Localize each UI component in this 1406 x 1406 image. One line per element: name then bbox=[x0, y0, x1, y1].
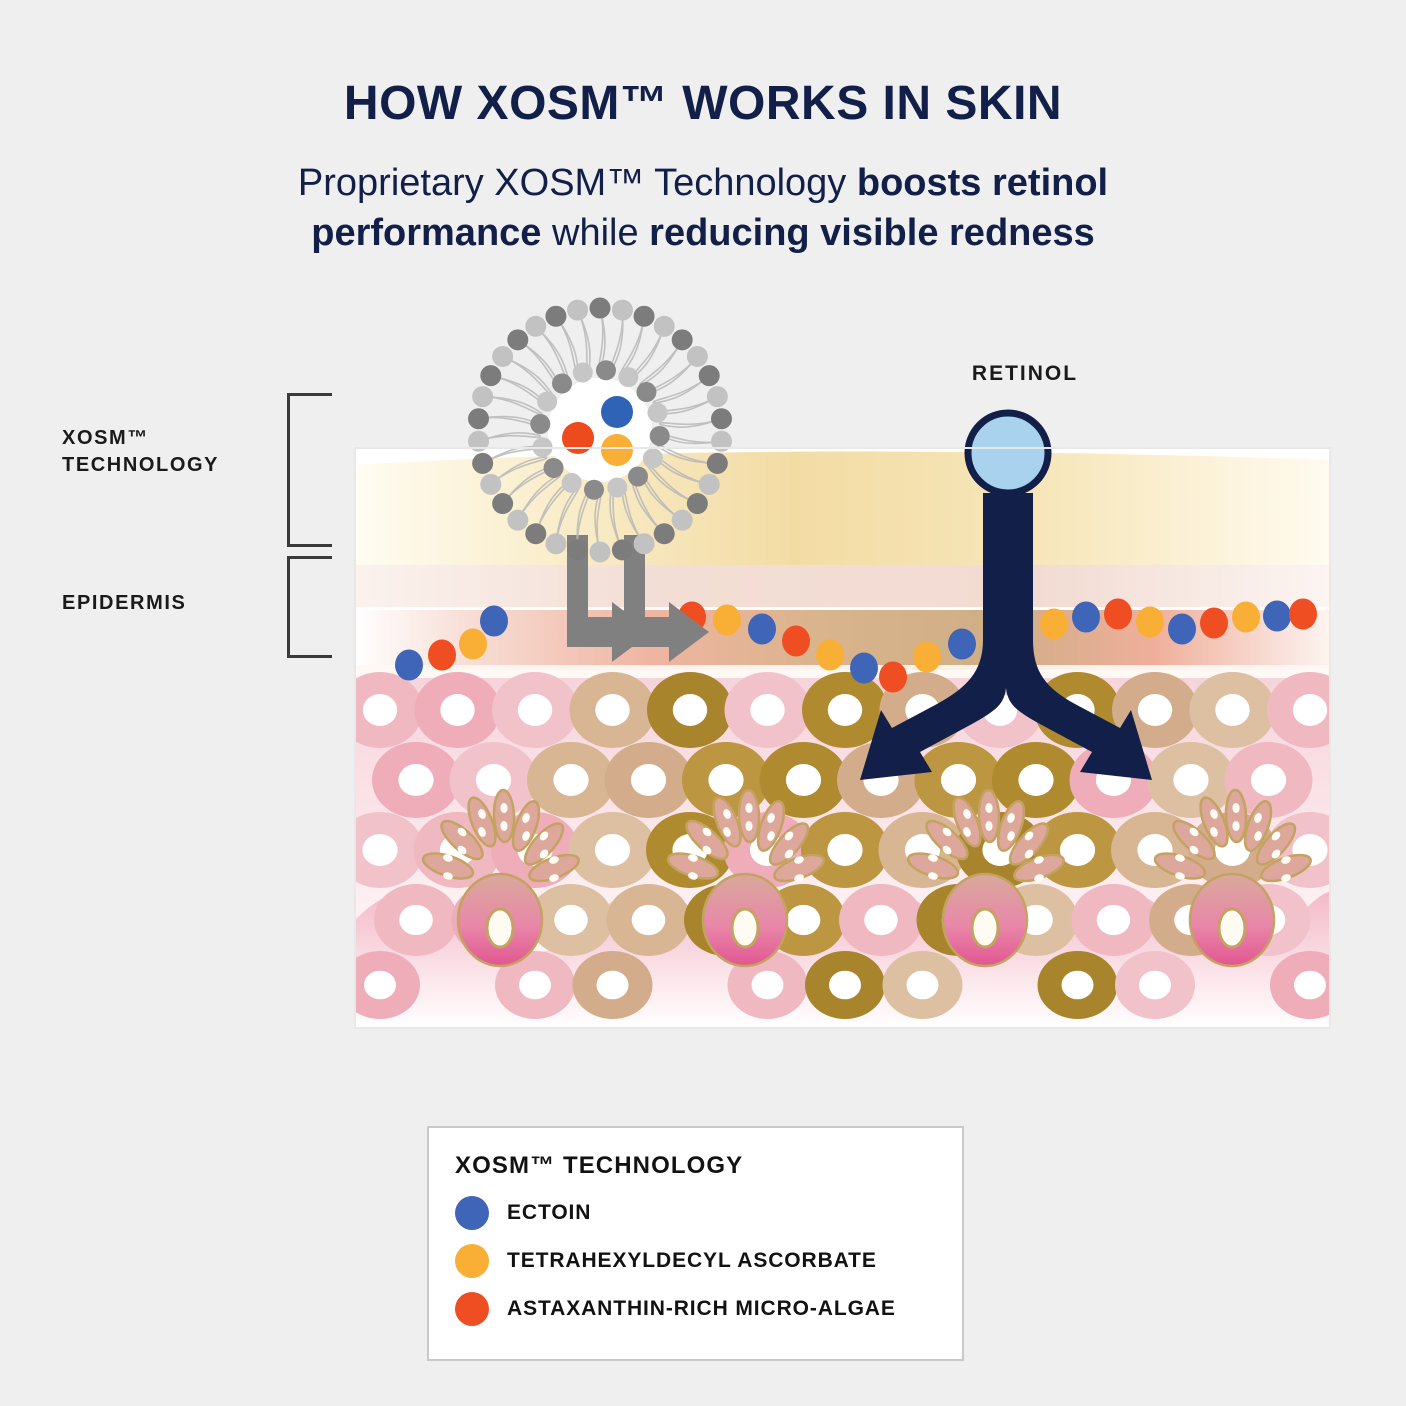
lipid-head-inner bbox=[537, 392, 557, 412]
cell-nucleus bbox=[631, 764, 666, 796]
lipid-head-inner bbox=[562, 473, 582, 493]
lipid-head bbox=[472, 453, 493, 474]
ingredient-dot bbox=[1104, 599, 1132, 630]
retinol-molecule bbox=[968, 413, 1048, 493]
cell-nucleus bbox=[362, 834, 397, 866]
lipid-head bbox=[672, 510, 693, 531]
ingredient-dot bbox=[1200, 608, 1228, 639]
lipid-head-inner bbox=[596, 360, 616, 380]
cell-nucleus bbox=[363, 694, 397, 726]
ingredient-dot bbox=[1136, 607, 1164, 638]
cell-nucleus bbox=[364, 971, 396, 1000]
cell-nucleus bbox=[673, 694, 707, 726]
cell-nucleus bbox=[786, 764, 821, 796]
ingredient-dot bbox=[1232, 602, 1260, 633]
liposome-dot-astaxanthin bbox=[562, 422, 594, 454]
cell-nucleus bbox=[1251, 764, 1286, 796]
cell-nucleus bbox=[554, 905, 588, 935]
liposome-dot-ascorbate bbox=[601, 434, 633, 466]
lipid-head bbox=[687, 493, 708, 514]
cell-nucleus bbox=[907, 971, 939, 1000]
lipid-head bbox=[634, 306, 655, 327]
melanocyte-nucleus bbox=[972, 909, 998, 947]
lipid-head-inner bbox=[643, 448, 663, 468]
lipid-head-inner bbox=[552, 374, 572, 394]
ingredient-dot bbox=[948, 629, 976, 660]
cell-nucleus bbox=[632, 905, 666, 935]
lipid-head-inner bbox=[530, 414, 550, 434]
lipid-head bbox=[545, 306, 566, 327]
lipid-head bbox=[654, 316, 675, 337]
ingredient-dot bbox=[713, 605, 741, 636]
ingredient-dot bbox=[748, 614, 776, 645]
cell-nucleus bbox=[828, 694, 862, 726]
lipid-head-inner bbox=[628, 466, 648, 486]
cell-nucleus bbox=[518, 694, 552, 726]
skin-cross-section-diagram bbox=[0, 280, 1406, 1070]
infographic-root: HOW XOSM™ WORKS IN SKIN Proprietary XOSM… bbox=[0, 0, 1406, 1406]
legend-item-ascorbate: TETRAHEXYLDECYL ASCORBATE bbox=[455, 1244, 962, 1278]
ingredient-dot bbox=[428, 640, 456, 671]
legend-label-astaxanthin: ASTAXANTHIN-RICH MICRO-ALGAE bbox=[507, 1297, 896, 1321]
page-subtitle: Proprietary XOSM™ Technology boosts reti… bbox=[203, 158, 1203, 258]
lipid-head bbox=[707, 453, 728, 474]
ingredient-dot bbox=[1289, 599, 1317, 630]
lipid-head-inner bbox=[647, 403, 667, 423]
cell-nucleus bbox=[829, 971, 861, 1000]
cell-nucleus bbox=[1215, 694, 1249, 726]
epidermis-upper-band bbox=[355, 565, 1330, 607]
lipid-head-inner bbox=[607, 477, 627, 497]
lipid-head bbox=[567, 300, 588, 321]
lipid-head bbox=[590, 298, 611, 319]
melanocyte-dendrite bbox=[493, 790, 515, 843]
legend-label-ascorbate: TETRAHEXYLDECYL ASCORBATE bbox=[507, 1249, 877, 1273]
ingredient-dot bbox=[395, 650, 423, 681]
lipid-head bbox=[672, 329, 693, 350]
legend-label-ectoin: ECTOIN bbox=[507, 1201, 591, 1225]
cell-nucleus bbox=[398, 764, 433, 796]
ingredient-dot bbox=[1072, 602, 1100, 633]
melanocyte-dendrite bbox=[978, 790, 1000, 843]
cell-nucleus bbox=[1293, 694, 1327, 726]
lipid-head bbox=[567, 539, 588, 560]
ingredient-dot bbox=[913, 642, 941, 673]
lipid-head bbox=[480, 365, 501, 386]
cell-nucleus bbox=[595, 834, 630, 866]
lipid-head bbox=[590, 542, 611, 563]
melanocyte-dendrite bbox=[738, 790, 760, 843]
ingredient-dot bbox=[1040, 609, 1068, 640]
ingredient-dot bbox=[879, 662, 907, 693]
lipid-head bbox=[472, 386, 493, 407]
lipid-head bbox=[480, 474, 501, 495]
melanocyte-nucleus bbox=[732, 909, 758, 947]
legend-title: XOSM™ TECHNOLOGY bbox=[455, 1152, 962, 1180]
cell-nucleus bbox=[595, 694, 629, 726]
lipid-head-inner bbox=[544, 458, 564, 478]
legend-dot-ectoin bbox=[455, 1196, 489, 1230]
ingredient-dot bbox=[1263, 601, 1291, 632]
cell-nucleus bbox=[1138, 694, 1172, 726]
cell-nucleus bbox=[1060, 834, 1095, 866]
lipid-head bbox=[612, 300, 633, 321]
ingredient-dot bbox=[816, 640, 844, 671]
lipid-head bbox=[525, 316, 546, 337]
lipid-head bbox=[507, 510, 528, 531]
lipid-head-inner bbox=[618, 367, 638, 387]
lipid-head bbox=[612, 539, 633, 560]
lipid-head bbox=[492, 346, 513, 367]
ingredient-dot bbox=[782, 626, 810, 657]
lipid-head bbox=[707, 386, 728, 407]
cell-nucleus bbox=[1139, 971, 1171, 1000]
lipid-head bbox=[699, 365, 720, 386]
lipid-head bbox=[711, 408, 732, 429]
lipid-head bbox=[699, 474, 720, 495]
legend-item-astaxanthin: ASTAXANTHIN-RICH MICRO-ALGAE bbox=[455, 1292, 962, 1326]
cell-nucleus bbox=[1097, 905, 1131, 935]
cell-nucleus bbox=[752, 971, 784, 1000]
cell-nucleus bbox=[1173, 764, 1208, 796]
liposome-dot-ectoin bbox=[601, 396, 633, 428]
legend-item-ectoin: ECTOIN bbox=[455, 1196, 962, 1230]
subtitle-bold-2: reducing visible redness bbox=[649, 212, 1095, 254]
legend-box: XOSM™ TECHNOLOGY ECTOIN TETRAHEXYLDECYL … bbox=[427, 1126, 964, 1361]
cell-nucleus bbox=[708, 764, 743, 796]
melanocyte-nucleus bbox=[487, 909, 513, 947]
legend-dot-ascorbate bbox=[455, 1244, 489, 1278]
cell-nucleus bbox=[941, 764, 976, 796]
legend-dot-astaxanthin bbox=[455, 1292, 489, 1326]
cell-nucleus bbox=[787, 905, 821, 935]
ingredient-dot bbox=[1168, 614, 1196, 645]
cell-nucleus bbox=[597, 971, 629, 1000]
lipid-head-inner bbox=[584, 480, 604, 500]
lipid-head-inner bbox=[650, 426, 670, 446]
ingredient-dot bbox=[850, 653, 878, 684]
cell-nucleus bbox=[440, 694, 474, 726]
lipid-head-inner bbox=[636, 382, 656, 402]
cell-nucleus bbox=[750, 694, 784, 726]
melanocyte-dendrite bbox=[1225, 790, 1247, 843]
subtitle-text-1: Proprietary XOSM™ Technology bbox=[298, 162, 857, 204]
lipid-head-inner bbox=[573, 363, 593, 383]
lipid-head bbox=[468, 408, 489, 429]
cell-nucleus bbox=[553, 764, 588, 796]
lipid-head bbox=[687, 346, 708, 367]
ingredient-dot bbox=[480, 606, 508, 637]
ingredient-dot bbox=[459, 629, 487, 660]
cell-nucleus bbox=[399, 905, 433, 935]
liposome-core bbox=[548, 378, 652, 482]
cell-nucleus bbox=[1294, 971, 1326, 1000]
subtitle-text-2: while bbox=[541, 212, 649, 254]
lipid-head bbox=[507, 329, 528, 350]
melanocyte-nucleus bbox=[1219, 909, 1245, 947]
lipid-head bbox=[545, 533, 566, 554]
lipid-head bbox=[525, 523, 546, 544]
cell-nucleus bbox=[827, 834, 862, 866]
lipid-head bbox=[492, 493, 513, 514]
lipid-head bbox=[654, 523, 675, 544]
cell-nucleus bbox=[519, 971, 551, 1000]
cell-nucleus bbox=[864, 905, 898, 935]
cell-nucleus bbox=[1018, 764, 1053, 796]
lipid-head bbox=[634, 533, 655, 554]
cell-nucleus bbox=[1062, 971, 1094, 1000]
page-title: HOW XOSM™ WORKS IN SKIN bbox=[0, 76, 1406, 131]
